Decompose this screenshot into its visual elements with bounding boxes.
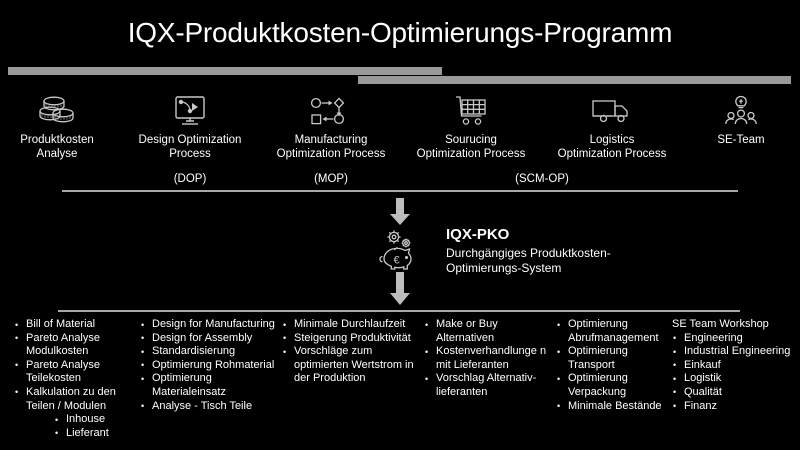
decorative-bar-top [8,67,442,75]
list-item: Optimierung Materialeinsatz [140,372,278,399]
divider-top [62,190,738,192]
list-item: Kostenverhandlunge n mit Lieferanten [424,345,554,372]
list-item: Optimierung Verpackung [556,372,668,399]
bullet-column-sourcing: Make or Buy Alternativen Kostenverhandlu… [424,318,554,400]
design-monitor-icon [126,92,254,130]
bullet-column-design: Design for Manufacturing Design for Asse… [140,318,278,413]
list-item: Standardisierung [140,345,278,359]
process-column-logistics-optimization[interactable]: LogisticsOptimization Process [546,92,678,161]
list-item: Design for Manufacturing [140,318,278,332]
list-item: Kalkulation zu den Teilen / Modulen [14,386,136,413]
core-system-subtitle: Durchgängiges Produktkosten-Optimierungs… [446,246,696,275]
process-column-label: Design OptimizationProcess [126,133,254,161]
list-item: Einkauf [672,359,794,373]
core-system-text: IQX-PKO Durchgängiges Produktkosten-Opti… [446,226,696,275]
divider-bottom [58,310,740,312]
acronym-dop: (DOP) [126,172,254,186]
process-columns-row: ProduktkostenAnalyse Design Optimization… [0,92,800,172]
list-item: Lieferant [14,427,136,441]
list-item: Steigerung Produktivität [282,332,420,346]
list-item: Optimierung Transport [556,345,668,372]
delivery-truck-icon [546,92,678,130]
process-column-design-optimization[interactable]: Design OptimizationProcess [126,92,254,161]
acronym-scm-op: (SCM-OP) [470,172,614,186]
process-column-sourcing-optimization[interactable]: SourucingOptimization Process [404,92,538,161]
list-item: Pareto Analyse Modulkosten [14,332,136,359]
core-system-title: IQX-PKO [446,226,696,244]
bullet-column-manufacturing: Minimale Durchlaufzeit Steigerung Produk… [282,318,420,386]
list-item: Industrial Engineering [672,345,794,359]
list-item: Finanz [672,400,794,414]
acronym-mop: (MOP) [262,172,400,186]
process-column-produktkosten-analyse[interactable]: ProduktkostenAnalyse [0,92,114,161]
list-item: Optimierung Rohmaterial [140,359,278,373]
decorative-bar-bottom [358,76,791,84]
bullet-column-se-team: SE Team Workshop Engineering Industrial … [672,318,794,413]
bullet-column-heading: SE Team Workshop [672,318,794,332]
svg-text:€: € [393,255,399,267]
flowchart-nodes-icon [262,92,400,130]
bullet-list: Optimierung Abrufmanagement Optimierung … [556,318,668,413]
coins-stack-icon [0,92,114,130]
list-item: Vorschlag Alternativ-lieferanten [424,372,554,399]
team-idea-icon [686,92,796,130]
process-column-label: SE-Team [686,133,796,147]
list-item: Engineering [672,332,794,346]
list-item: Minimale Bestände [556,400,668,414]
process-column-label: ManufacturingOptimization Process [262,133,400,161]
bullet-list: Make or Buy Alternativen Kostenverhandlu… [424,318,554,400]
list-item: Vorschläge zum optimierten Wertstrom in … [282,345,420,386]
list-item: Make or Buy Alternativen [424,318,554,345]
process-column-label: LogisticsOptimization Process [546,133,678,161]
piggy-bank-gears-icon: € [375,228,427,274]
bullet-column-produktkosten: Bill of Material Pareto Analyse Modulkos… [14,318,136,440]
process-column-label: ProduktkostenAnalyse [0,133,114,161]
arrow-down-icon-lower [389,272,411,306]
list-item: Optimierung Abrufmanagement [556,318,668,345]
list-item: Pareto Analyse Teilekosten [14,359,136,386]
list-item: Inhouse [14,413,136,427]
list-item: Design for Assembly [140,332,278,346]
bullet-list: Minimale Durchlaufzeit Steigerung Produk… [282,318,420,386]
process-column-se-team[interactable]: SE-Team [686,92,796,147]
list-item: Minimale Durchlaufzeit [282,318,420,332]
list-item: Logistik [672,372,794,386]
list-item: Bill of Material [14,318,136,332]
bullet-list: Bill of Material Pareto Analyse Modulkos… [14,318,136,440]
list-item: Qualität [672,386,794,400]
bullet-columns-row: Bill of Material Pareto Analyse Modulkos… [0,318,800,450]
process-column-manufacturing-optimization[interactable]: ManufacturingOptimization Process [262,92,400,161]
bullet-column-logistics: Optimierung Abrufmanagement Optimierung … [556,318,668,413]
arrow-down-icon-upper [389,198,411,226]
shopping-cart-icon [404,92,538,130]
bullet-list: Design for Manufacturing Design for Asse… [140,318,278,413]
list-item: Analyse - Tisch Teile [140,400,278,414]
bullet-list: Engineering Industrial Engineering Einka… [672,332,794,414]
page-title: IQX-Produktkosten-Optimierungs-Programm [0,16,800,50]
process-column-label: SourucingOptimization Process [404,133,538,161]
